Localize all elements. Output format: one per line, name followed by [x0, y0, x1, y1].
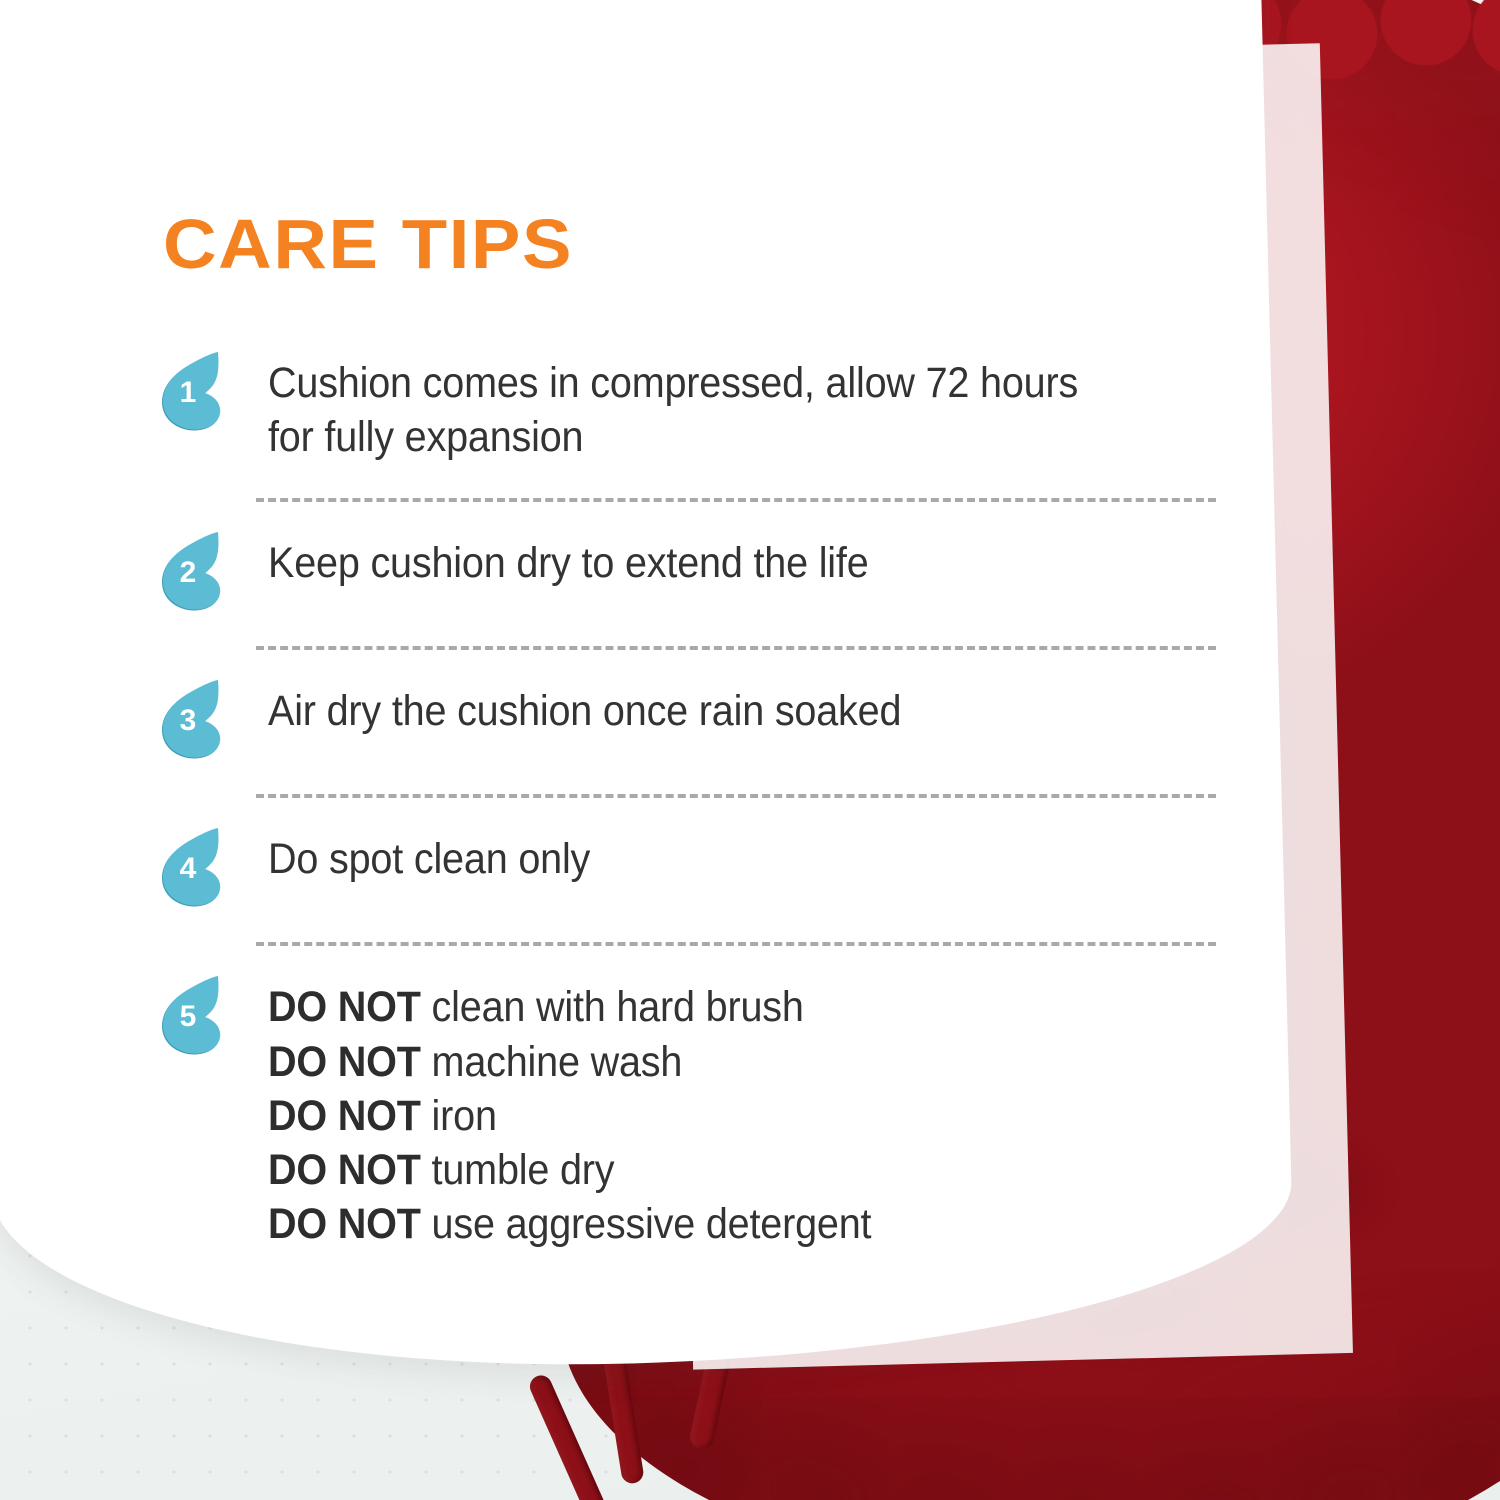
step-number: 2 — [160, 558, 216, 588]
care-tips-list: 1 Cushion comes in compressed, allow 72 … — [160, 352, 1220, 1251]
step-number: 5 — [160, 1002, 216, 1032]
care-tip-donot-list: DO NOT clean with hard brush DO NOT mach… — [268, 976, 1144, 1251]
donot-line: DO NOT iron — [268, 1089, 1144, 1143]
care-tip-text: Cushion comes in compressed, allow 72 ho… — [268, 352, 1144, 464]
care-tip-line: Air dry the cushion once rain soaked — [268, 684, 1144, 738]
donot-line: DO NOT clean with hard brush — [268, 980, 1144, 1034]
care-tips-infographic: CARE TIPS 1 Cushion comes in compressed,… — [0, 0, 1500, 1500]
step-number-badge: 5 — [160, 976, 226, 1056]
donot-prefix: DO NOT — [268, 1092, 421, 1140]
care-tip-item: 4 Do spot clean only — [160, 828, 1220, 908]
care-tip-line: Do spot clean only — [268, 832, 1144, 886]
step-number-badge: 4 — [160, 828, 226, 908]
step-number-badge: 1 — [160, 352, 226, 432]
donot-line: DO NOT tumble dry — [268, 1143, 1144, 1197]
donot-prefix: DO NOT — [268, 1038, 421, 1086]
tip-divider — [256, 646, 1216, 650]
tip-divider — [256, 942, 1216, 946]
step-number: 4 — [160, 854, 216, 884]
care-tip-text: Keep cushion dry to extend the life — [268, 532, 1144, 590]
care-tip-item: 3 Air dry the cushion once rain soaked — [160, 680, 1220, 760]
care-tip-line: Cushion comes in compressed, allow 72 ho… — [268, 356, 1144, 410]
tip-divider — [256, 498, 1216, 502]
step-number-badge: 3 — [160, 680, 226, 760]
donot-action: clean with hard brush — [432, 983, 804, 1031]
page-title: CARE TIPS — [163, 204, 573, 284]
donot-action: use aggressive detergent — [432, 1200, 872, 1248]
step-number: 1 — [160, 378, 216, 408]
care-tip-item: 5 DO NOT clean with hard brush DO NOT ma… — [160, 976, 1220, 1251]
care-tip-item: 1 Cushion comes in compressed, allow 72 … — [160, 352, 1220, 464]
tip-divider — [256, 794, 1216, 798]
care-tip-text: Do spot clean only — [268, 828, 1144, 886]
donot-action: iron — [432, 1092, 497, 1140]
content-layer: CARE TIPS 1 Cushion comes in compressed,… — [0, 0, 1500, 1500]
donot-line: DO NOT use aggressive detergent — [268, 1197, 1144, 1251]
step-number: 3 — [160, 706, 216, 736]
care-tip-line: for fully expansion — [268, 410, 1144, 464]
care-tip-text: Air dry the cushion once rain soaked — [268, 680, 1144, 738]
care-tip-item: 2 Keep cushion dry to extend the life — [160, 532, 1220, 612]
care-tip-line: Keep cushion dry to extend the life — [268, 536, 1144, 590]
step-number-badge: 2 — [160, 532, 226, 612]
donot-prefix: DO NOT — [268, 1146, 421, 1194]
donot-line: DO NOT machine wash — [268, 1035, 1144, 1089]
donot-prefix: DO NOT — [268, 1200, 421, 1248]
donot-action: tumble dry — [432, 1146, 615, 1194]
donot-prefix: DO NOT — [268, 983, 421, 1031]
donot-action: machine wash — [432, 1038, 683, 1086]
